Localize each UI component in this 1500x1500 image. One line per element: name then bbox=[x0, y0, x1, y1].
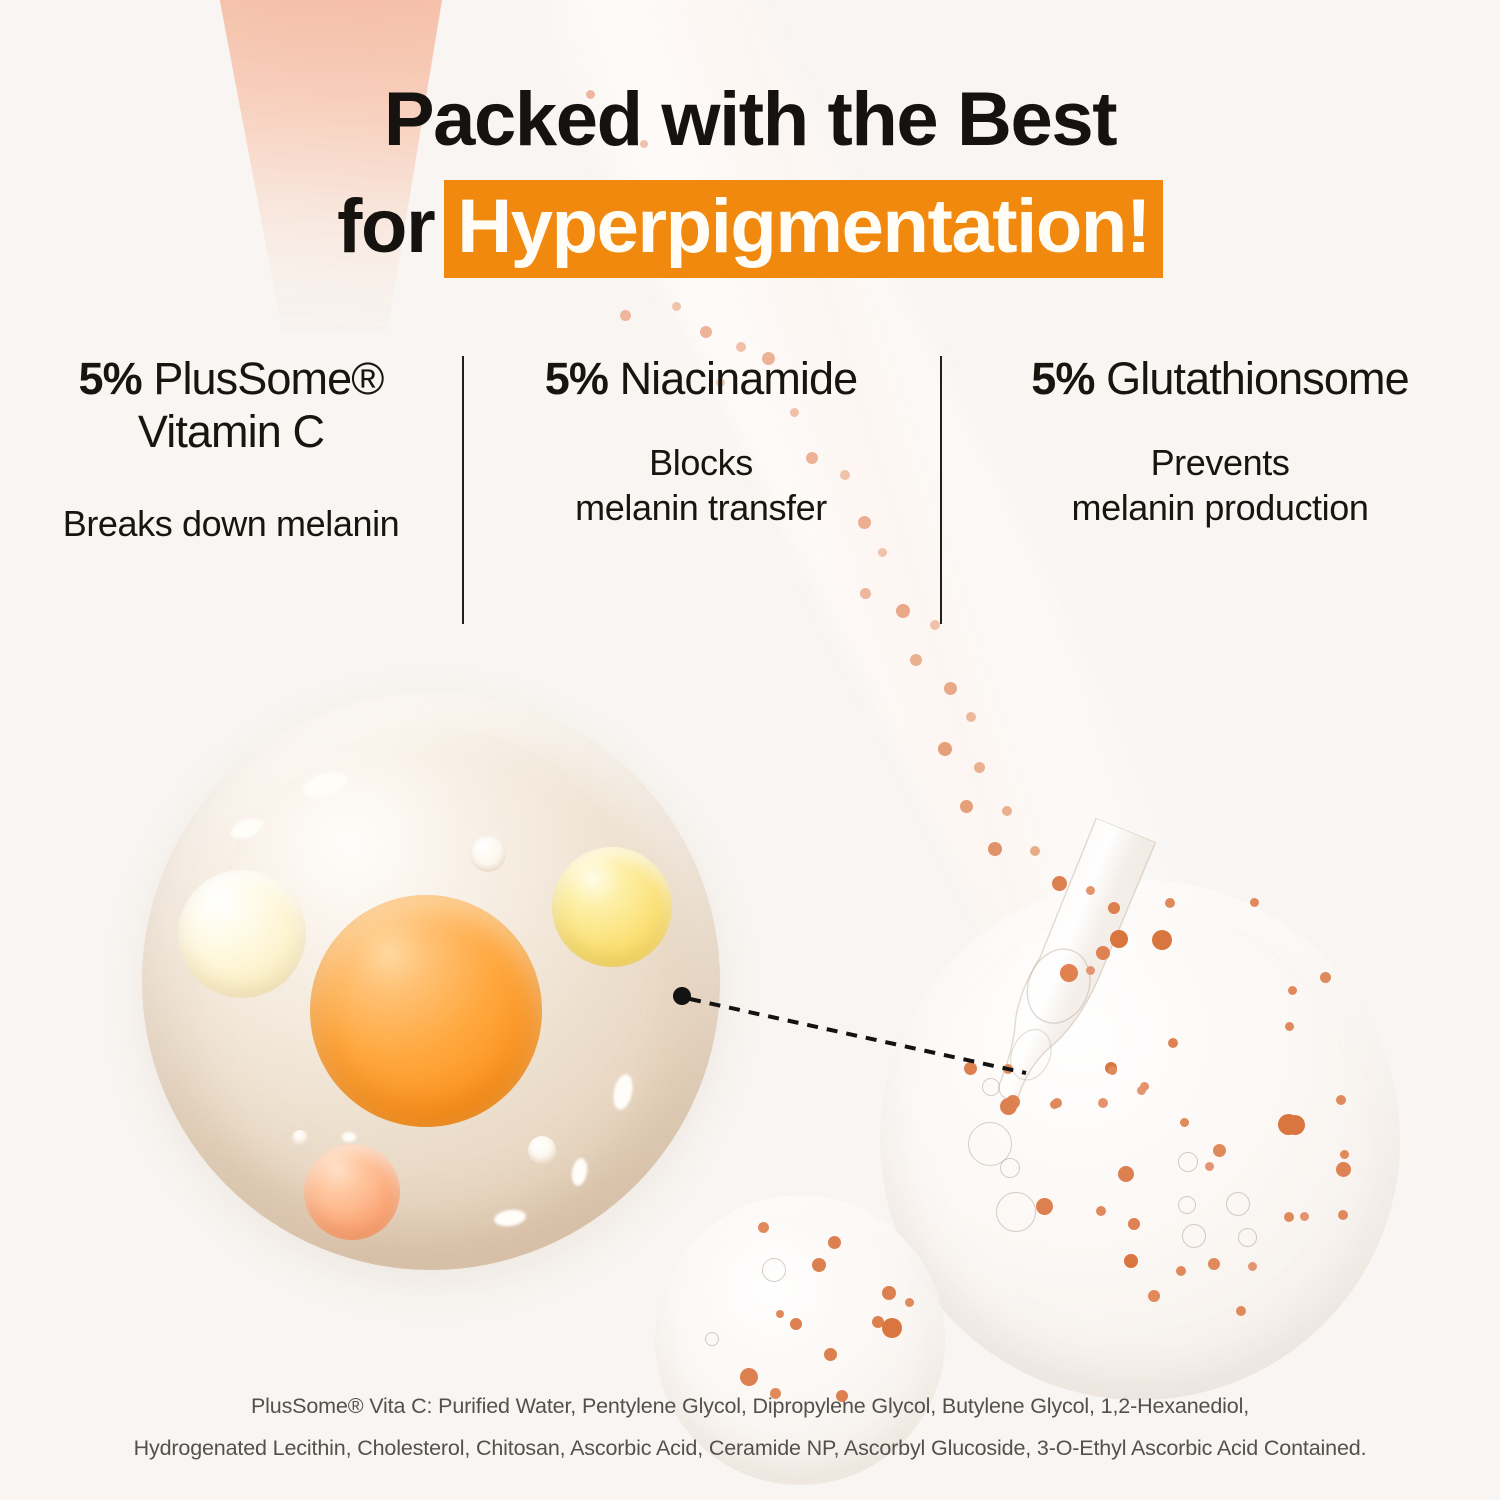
ingredient-percent-glutathionsome: 5% bbox=[1031, 353, 1094, 404]
ingredient-benefit-glutathionsome: Prevents melanin production bbox=[954, 441, 1486, 530]
ingredient-list-line-1: PlusSome® Vita C: Purified Water, Pentyl… bbox=[0, 1386, 1500, 1428]
headline-prefix: for bbox=[337, 184, 434, 269]
ingredient-benefit-glutathionsome-line-2: melanin production bbox=[1072, 487, 1369, 528]
page-title: Packed with the Best forHyperpigmentatio… bbox=[0, 82, 1500, 278]
vitamin-c-core-sphere bbox=[310, 895, 542, 1127]
ingredient-name-vitamin-c: PlusSome® Vitamin C bbox=[138, 353, 384, 457]
ingredient-list-line-2: Hydrogenated Lecithin, Cholesterol, Chit… bbox=[0, 1428, 1500, 1470]
ingredient-percent-niacinamide: 5% bbox=[545, 353, 608, 404]
cream-sphere bbox=[178, 870, 306, 998]
ingredient-title-glutathionsome: 5% Glutathionsome bbox=[954, 352, 1486, 405]
liposome-capsule-illustration bbox=[142, 692, 720, 1270]
ingredient-benefit-vitamin-c: Breaks down melanin bbox=[26, 502, 436, 547]
ingredient-column-glutathionsome: 5% Glutathionsome Prevents melanin produ… bbox=[940, 352, 1500, 530]
ingredient-name-glutathionsome: Glutathionsome bbox=[1106, 353, 1409, 404]
peach-sphere bbox=[304, 1144, 400, 1240]
ingredient-benefit-niacinamide-line-2: melanin transfer bbox=[575, 487, 827, 528]
ingredient-column-vitamin-c: 5% PlusSome® Vitamin C Breaks down melan… bbox=[0, 352, 462, 547]
ingredient-benefit-niacinamide-line-1: Blocks bbox=[649, 442, 753, 483]
ingredient-column-niacinamide: 5% Niacinamide Blocks melanin transfer bbox=[462, 352, 940, 530]
ingredient-title-niacinamide: 5% Niacinamide bbox=[482, 352, 920, 405]
ingredient-name-niacinamide: Niacinamide bbox=[620, 353, 858, 404]
ingredient-title-vitamin-c: 5% PlusSome® Vitamin C bbox=[26, 352, 436, 458]
column-divider-2 bbox=[940, 356, 942, 624]
ingredient-percent-vitamin-c: 5% bbox=[78, 353, 141, 404]
headline-highlight-badge: Hyperpigmentation! bbox=[444, 180, 1163, 278]
ingredient-columns: 5% PlusSome® Vitamin C Breaks down melan… bbox=[0, 352, 1500, 632]
dashed-pointer-line bbox=[660, 975, 1060, 1095]
yellow-sphere bbox=[552, 847, 672, 967]
ingredient-benefit-glutathionsome-line-1: Prevents bbox=[1151, 442, 1290, 483]
product-infographic: Packed with the Best forHyperpigmentatio… bbox=[0, 0, 1500, 1500]
ingredient-list-fineprint: PlusSome® Vita C: Purified Water, Pentyl… bbox=[0, 1386, 1500, 1470]
headline-line-1: Packed with the Best bbox=[0, 82, 1500, 158]
ingredient-benefit-niacinamide: Blocks melanin transfer bbox=[482, 441, 920, 530]
serum-droplet-large bbox=[880, 880, 1400, 1400]
headline-line-2: forHyperpigmentation! bbox=[0, 180, 1500, 278]
column-divider-1 bbox=[462, 356, 464, 624]
